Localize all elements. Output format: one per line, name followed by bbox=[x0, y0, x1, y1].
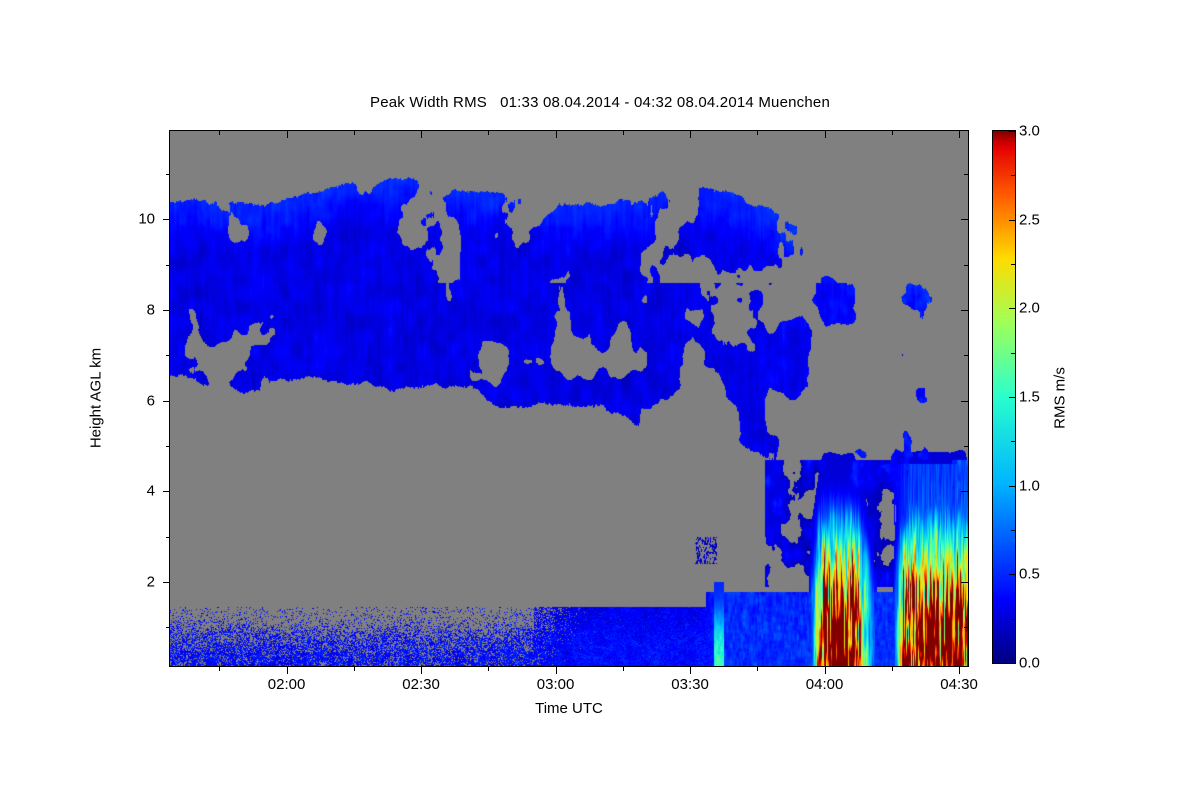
colorbar-tick bbox=[1009, 574, 1015, 575]
y-axis-minor-tick-right bbox=[964, 446, 968, 447]
colorbar-minor-tick bbox=[1011, 353, 1015, 354]
x-axis-tick bbox=[556, 667, 557, 674]
colorbar-tick bbox=[1009, 308, 1015, 309]
x-axis-tick-top bbox=[556, 131, 557, 138]
y-axis-minor-tick-right bbox=[964, 355, 968, 356]
y-axis-minor-tick bbox=[166, 355, 170, 356]
heatmap-raster bbox=[170, 131, 968, 666]
x-axis-minor-tick bbox=[623, 667, 624, 671]
y-axis-tick bbox=[163, 401, 170, 402]
y-axis-tick-label: 8 bbox=[147, 302, 155, 319]
x-axis-minor-tick-top bbox=[219, 131, 220, 135]
colorbar-tick-label: 0.0 bbox=[1019, 655, 1040, 672]
colorbar-minor-tick bbox=[1011, 175, 1015, 176]
colorbar-tick-label: 2.5 bbox=[1019, 211, 1040, 228]
colorbar-minor-tick bbox=[1011, 619, 1015, 620]
y-axis-minor-tick bbox=[166, 174, 170, 175]
y-axis-tick bbox=[163, 219, 170, 220]
x-axis-tick bbox=[959, 667, 960, 674]
colorbar-minor-tick bbox=[1011, 530, 1015, 531]
colorbar-minor-tick bbox=[1011, 264, 1015, 265]
x-axis-minor-tick bbox=[354, 667, 355, 671]
y-axis-tick bbox=[163, 491, 170, 492]
y-axis-tick bbox=[163, 310, 170, 311]
colorbar-minor-tick bbox=[1011, 441, 1015, 442]
page-title: Peak Width RMS 01:33 08.04.2014 - 04:32 … bbox=[0, 94, 1200, 111]
x-axis-minor-tick-top bbox=[757, 131, 758, 135]
x-axis-tick-label: 03:00 bbox=[537, 676, 575, 693]
x-axis-tick-top bbox=[959, 131, 960, 138]
x-axis-minor-tick bbox=[488, 667, 489, 671]
y-axis-minor-tick-right bbox=[964, 174, 968, 175]
y-axis-tick-right bbox=[961, 491, 968, 492]
y-axis-minor-tick-right bbox=[964, 265, 968, 266]
colorbar-title: RMS m/s bbox=[1052, 367, 1069, 429]
x-axis-tick-label: 02:30 bbox=[402, 676, 440, 693]
y-axis-tick-right bbox=[961, 582, 968, 583]
colorbar-tick-label: 0.5 bbox=[1019, 566, 1040, 583]
x-axis-tick bbox=[825, 667, 826, 674]
x-axis-minor-tick-top bbox=[623, 131, 624, 135]
x-axis-minor-tick bbox=[757, 667, 758, 671]
figure-canvas: Peak Width RMS 01:33 08.04.2014 - 04:32 … bbox=[0, 0, 1200, 800]
colorbar-tick-label: 1.0 bbox=[1019, 477, 1040, 494]
heatmap-plot-area[interactable] bbox=[170, 131, 968, 666]
colorbar-tick-label: 2.0 bbox=[1019, 300, 1040, 317]
y-axis-minor-tick bbox=[166, 627, 170, 628]
colorbar-tick bbox=[1009, 663, 1015, 664]
y-axis-tick-right bbox=[961, 310, 968, 311]
colorbar-tick bbox=[1009, 131, 1015, 132]
y-axis-minor-tick bbox=[166, 265, 170, 266]
y-axis-minor-tick-right bbox=[964, 627, 968, 628]
y-axis-title: Height AGL km bbox=[88, 348, 105, 448]
colorbar-tick bbox=[1009, 220, 1015, 221]
y-axis-tick-label: 4 bbox=[147, 483, 155, 500]
x-axis-minor-tick bbox=[892, 667, 893, 671]
y-axis-minor-tick-right bbox=[964, 537, 968, 538]
x-axis-minor-tick bbox=[219, 667, 220, 671]
x-axis-tick bbox=[421, 667, 422, 674]
y-axis-minor-tick bbox=[166, 446, 170, 447]
colorbar-tick-label: 1.5 bbox=[1019, 389, 1040, 406]
x-axis-tick-label: 04:30 bbox=[940, 676, 978, 693]
x-axis-tick-top bbox=[825, 131, 826, 138]
y-axis-tick-right bbox=[961, 401, 968, 402]
y-axis-tick-label: 6 bbox=[147, 392, 155, 409]
x-axis-tick-label: 04:00 bbox=[806, 676, 844, 693]
x-axis-minor-tick-top bbox=[354, 131, 355, 135]
colorbar-tick bbox=[1009, 397, 1015, 398]
y-axis-tick bbox=[163, 582, 170, 583]
colorbar-tick-label: 3.0 bbox=[1019, 123, 1040, 140]
x-axis-tick bbox=[287, 667, 288, 674]
x-axis-tick bbox=[690, 667, 691, 674]
x-axis-minor-tick-top bbox=[488, 131, 489, 135]
colorbar-tick bbox=[1009, 486, 1015, 487]
x-axis-tick-top bbox=[421, 131, 422, 138]
x-axis-tick-top bbox=[690, 131, 691, 138]
y-axis-tick-right bbox=[961, 219, 968, 220]
y-axis-tick-label: 10 bbox=[138, 211, 155, 228]
x-axis-minor-tick-top bbox=[892, 131, 893, 135]
y-axis-minor-tick bbox=[166, 537, 170, 538]
y-axis-tick-label: 2 bbox=[147, 574, 155, 591]
x-axis-title: Time UTC bbox=[535, 700, 603, 717]
x-axis-tick-label: 02:00 bbox=[268, 676, 306, 693]
x-axis-tick-label: 03:30 bbox=[671, 676, 709, 693]
x-axis-tick-top bbox=[287, 131, 288, 138]
